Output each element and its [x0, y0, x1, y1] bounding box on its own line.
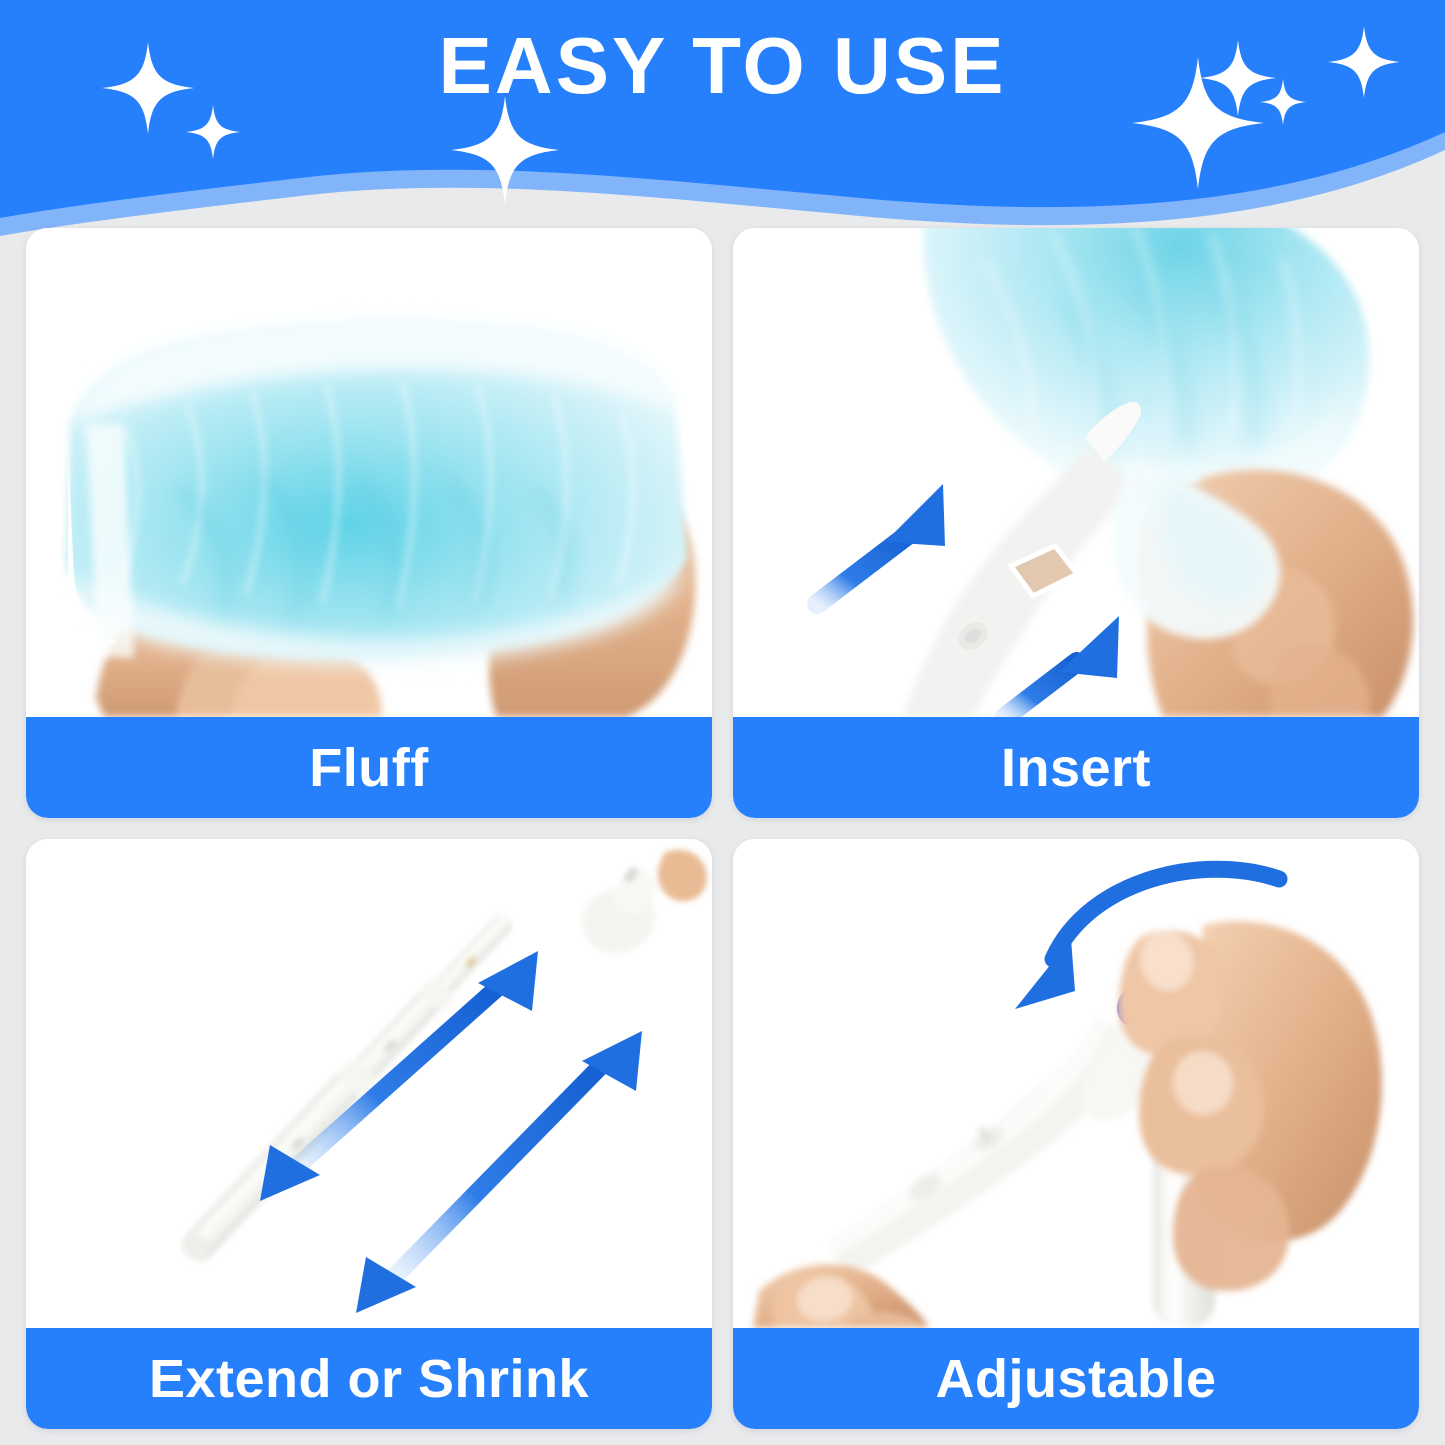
step-card-extend-or-shrink[interactable]: Extend or Shrink: [26, 839, 712, 1429]
extend-illustration: [26, 839, 712, 1328]
step-caption-extend-or-shrink: Extend or Shrink: [26, 1328, 712, 1429]
step-caption-adjustable: Adjustable: [733, 1328, 1419, 1429]
sparkle-icon: [451, 96, 559, 204]
steps-grid: Fluff: [26, 228, 1419, 1418]
adjustable-illustration: [733, 839, 1419, 1328]
step-photo-fluff: [26, 228, 712, 717]
step-card-insert[interactable]: Insert: [733, 228, 1419, 818]
step-photo-extend-or-shrink: [26, 839, 712, 1328]
insert-illustration: [733, 228, 1419, 717]
sparkle-icon: [186, 105, 240, 159]
step-photo-adjustable: [733, 839, 1419, 1328]
step-card-adjustable[interactable]: Adjustable: [733, 839, 1419, 1429]
product-infographic: EASY TO USE: [0, 0, 1445, 1445]
step-photo-insert: [733, 228, 1419, 717]
page-title: EASY TO USE: [0, 26, 1445, 106]
fluff-illustration: [26, 228, 712, 717]
step-caption-insert: Insert: [733, 717, 1419, 818]
step-caption-fluff: Fluff: [26, 717, 712, 818]
header-banner: EASY TO USE: [0, 0, 1445, 240]
step-card-fluff[interactable]: Fluff: [26, 228, 712, 818]
